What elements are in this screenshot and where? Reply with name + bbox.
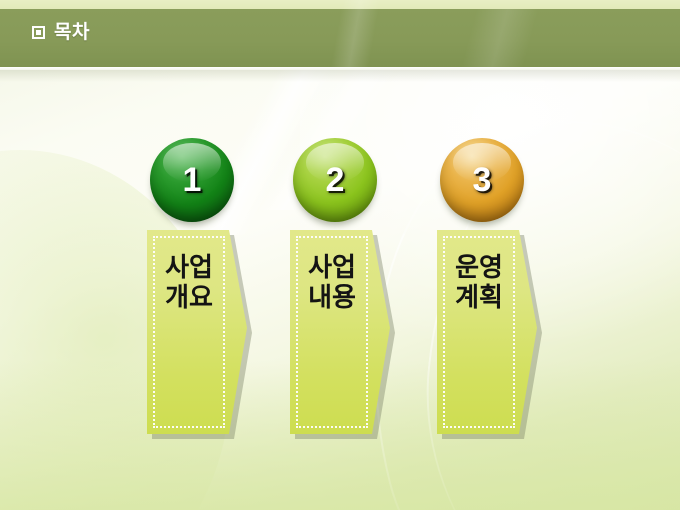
toc-number-2: 2 bbox=[293, 138, 377, 222]
toc-panel-wrap-1: 사업 개요 bbox=[147, 230, 247, 434]
toc-columns: 1 사업 개요 2 사업 내용 bbox=[0, 0, 680, 510]
slide-canvas: 목차 1 사업 개요 2 bbox=[0, 0, 680, 510]
toc-sphere-wrap-1: 1 bbox=[147, 138, 247, 230]
toc-label-3: 운영 계획 bbox=[437, 252, 521, 312]
toc-panel-wrap-3: 운영 계획 bbox=[437, 230, 537, 434]
toc-sphere-1[interactable]: 1 bbox=[150, 138, 234, 222]
toc-number-1: 1 bbox=[150, 138, 234, 222]
toc-sphere-wrap-3: 3 bbox=[437, 138, 537, 230]
toc-label-1: 사업 개요 bbox=[147, 252, 231, 312]
toc-sphere-2[interactable]: 2 bbox=[293, 138, 377, 222]
toc-number-3: 3 bbox=[440, 138, 524, 222]
toc-sphere-wrap-2: 2 bbox=[290, 138, 390, 230]
toc-sphere-3[interactable]: 3 bbox=[440, 138, 524, 222]
toc-label-2: 사업 내용 bbox=[290, 252, 374, 312]
toc-panel-wrap-2: 사업 내용 bbox=[290, 230, 390, 434]
